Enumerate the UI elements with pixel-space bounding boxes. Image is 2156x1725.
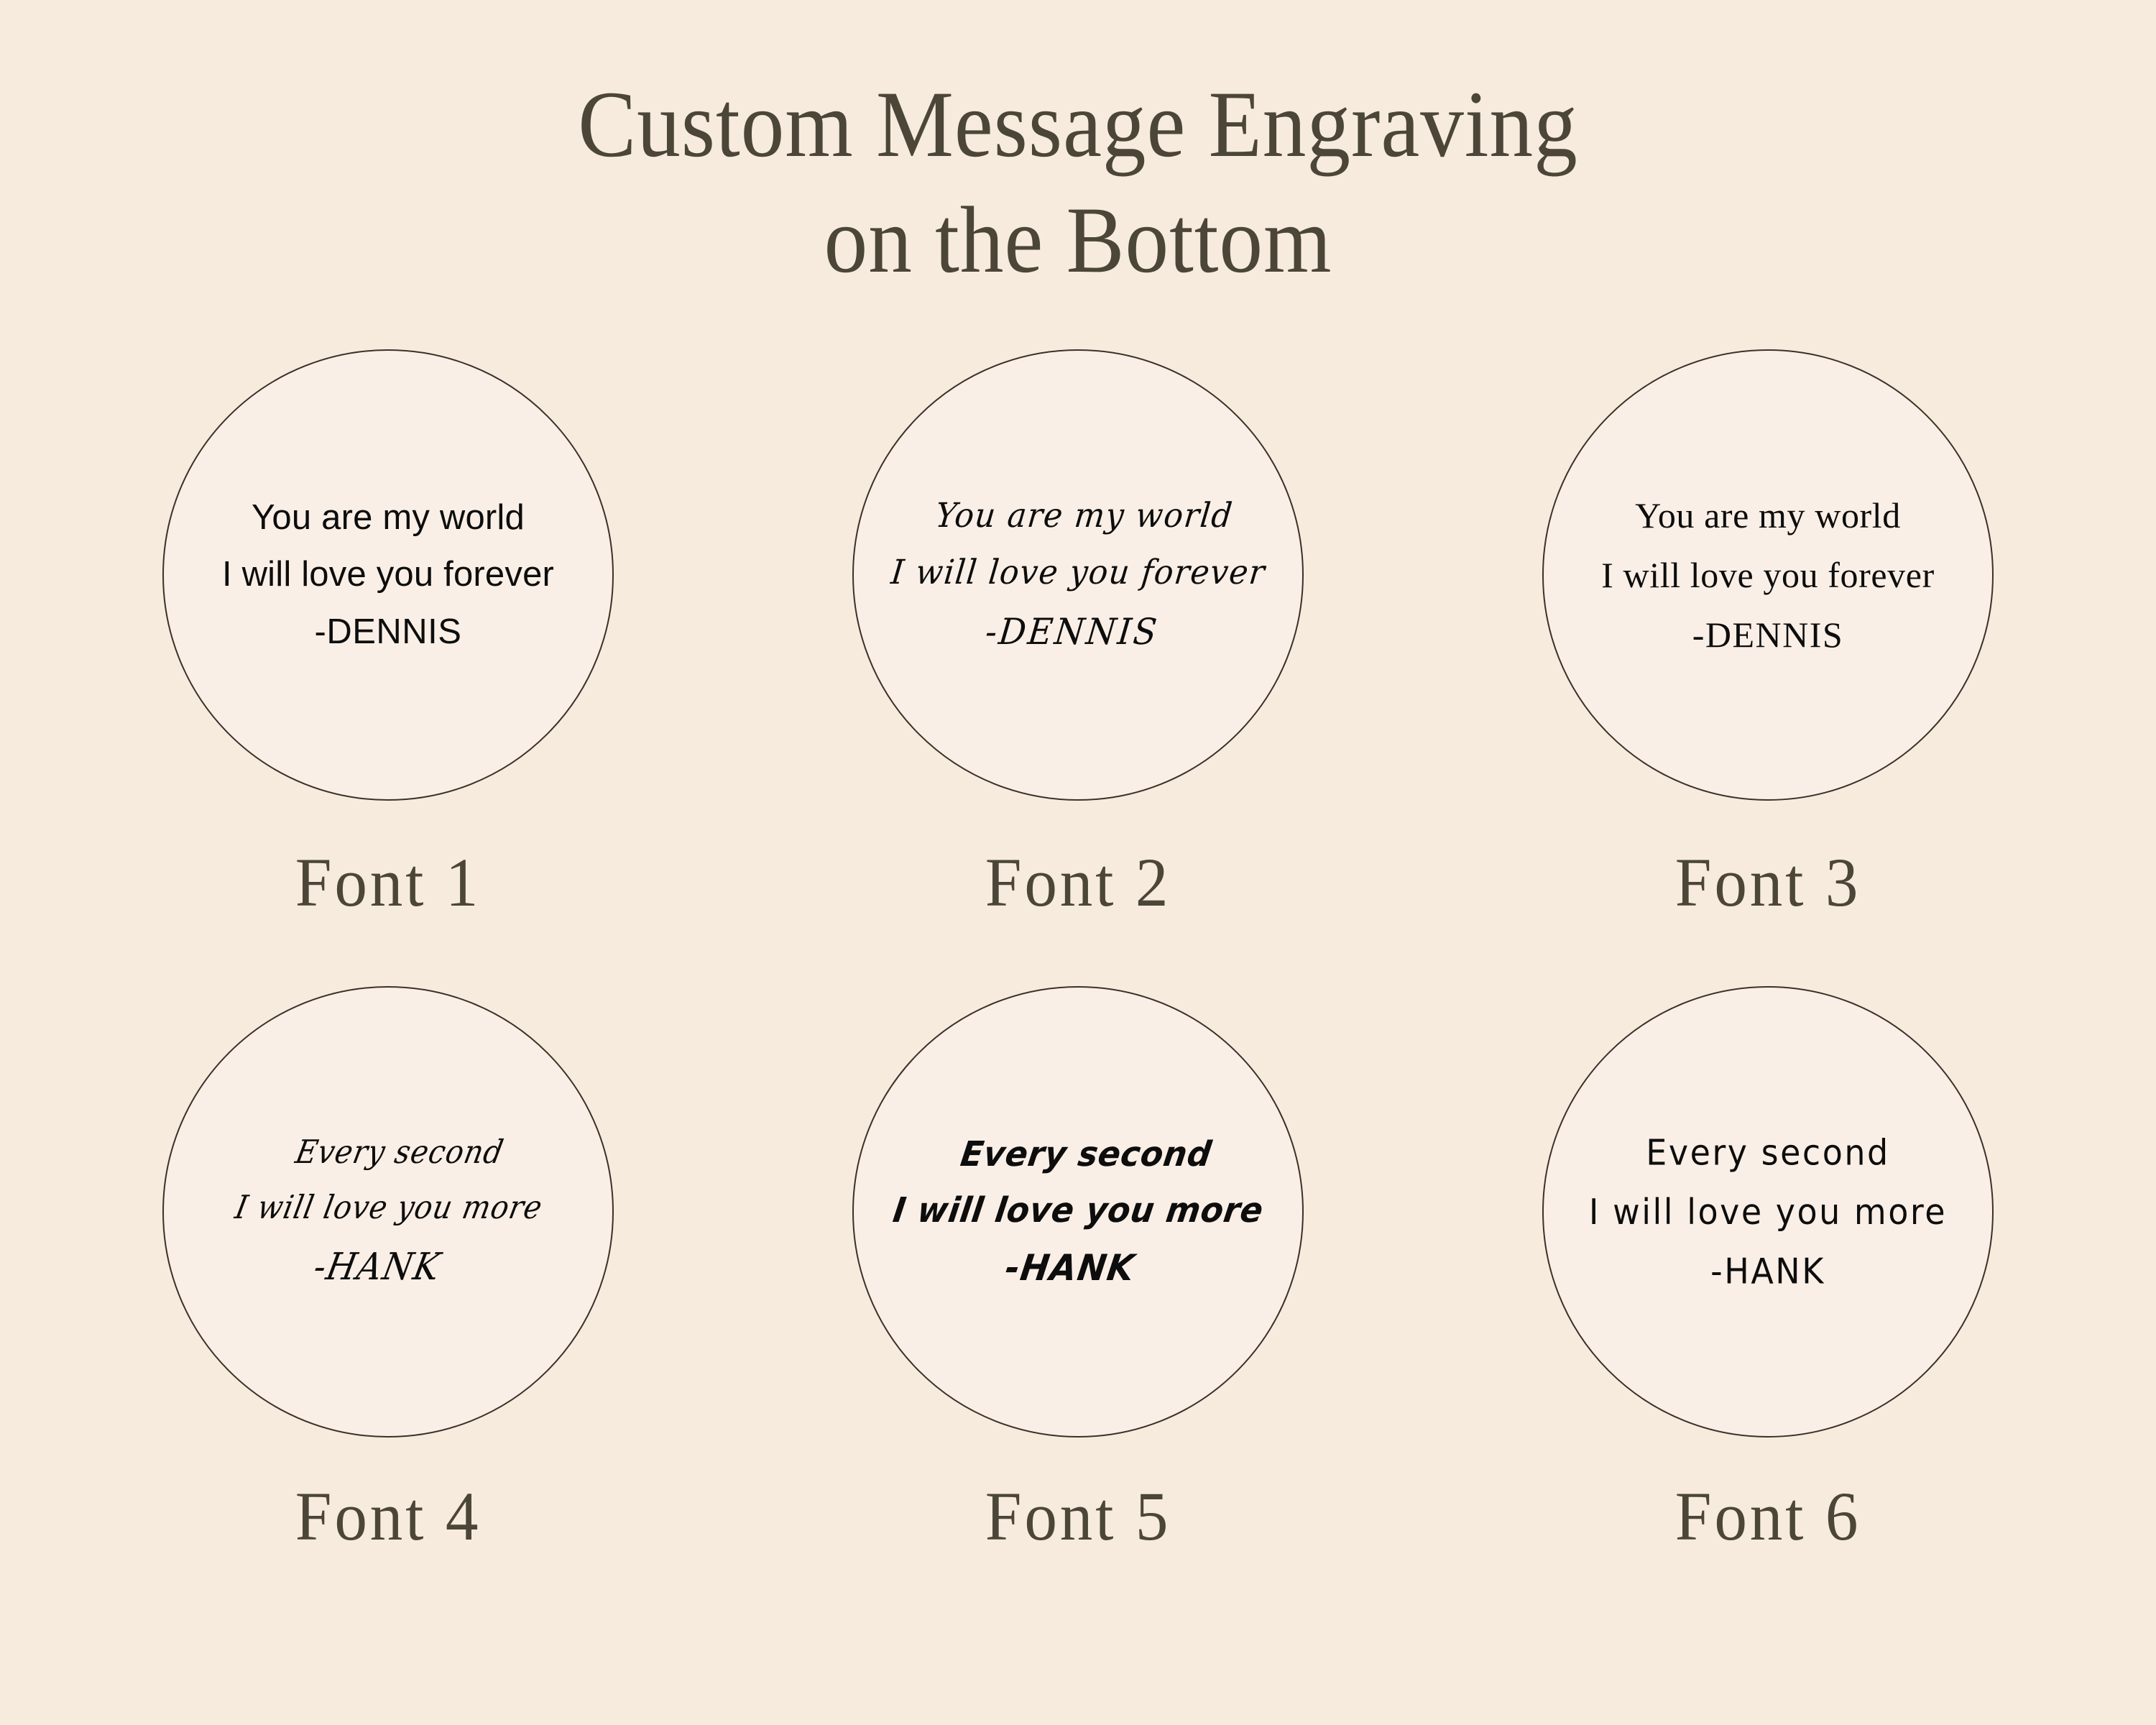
font-sample-1[interactable]: You are my world I will love you forever…	[43, 349, 733, 917]
font-sample-3[interactable]: You are my world I will love you forever…	[1423, 349, 2113, 917]
engraving-signature: -DENNIS	[982, 602, 1161, 662]
font-sample-6[interactable]: Every second I will love you more -HANK …	[1423, 986, 2113, 1551]
engraving-signature: -HANK	[1710, 1241, 1825, 1301]
engraving-text-5: Every second I will love you more -HANK	[852, 1127, 1304, 1297]
engraving-text-2: You are my world I will love you forever…	[852, 488, 1303, 662]
page-title: Custom Message Engraving on the Bottom	[86, 66, 2070, 298]
engraving-preview-disc-3[interactable]: You are my world I will love you forever…	[1542, 349, 1994, 801]
engraving-text-6: Every second I will love you more -HANK	[1542, 1123, 1994, 1302]
engraving-line-1: Every second	[291, 1124, 509, 1179]
font-sample-grid: You are my world I will love you forever…	[0, 349, 2156, 1551]
font-caption-1: Font 1	[295, 848, 481, 917]
font-caption-6: Font 6	[1675, 1482, 1861, 1551]
engraving-signature: -HANK	[308, 1236, 447, 1299]
engraving-preview-disc-2[interactable]: You are my world I will love you forever…	[852, 349, 1304, 801]
engraving-signature: -HANK	[1001, 1238, 1138, 1297]
font-sample-4[interactable]: Every second I will love you more -HANK …	[43, 986, 733, 1551]
engraving-text-4: Every second I will love you more -HANK	[164, 1124, 612, 1299]
font-caption-2: Font 2	[985, 848, 1171, 917]
engraving-preview-disc-6[interactable]: Every second I will love you more -HANK	[1542, 986, 1994, 1437]
engraving-signature: -DENNIS	[315, 604, 462, 661]
engraving-line-2: I will love you forever	[1601, 546, 1935, 605]
font-sample-2[interactable]: You are my world I will love you forever…	[733, 349, 1423, 917]
engraving-text-1: You are my world I will love you forever…	[162, 489, 614, 661]
engraving-signature: -DENNIS	[1692, 605, 1843, 665]
engraving-line-2: I will love you forever	[888, 545, 1268, 602]
engraving-line-1: You are my world	[252, 489, 525, 546]
engraving-line-1: You are my world	[933, 488, 1236, 545]
page-title-line-2: on the Bottom	[86, 182, 2070, 298]
engraving-line-2: I will love you more	[890, 1183, 1267, 1239]
font-sample-row-bottom: Every second I will love you more -HANK …	[0, 986, 2156, 1551]
engraving-line-2: I will love you more	[231, 1179, 548, 1235]
engraving-line-2: I will love you more	[1589, 1182, 1947, 1242]
font-caption-5: Font 5	[985, 1482, 1171, 1551]
engraving-preview-disc-1[interactable]: You are my world I will love you forever…	[162, 349, 614, 801]
font-caption-4: Font 4	[295, 1482, 481, 1551]
engraving-line-1: You are my world	[1635, 486, 1901, 546]
engraving-line-1: Every second	[957, 1127, 1215, 1183]
engraving-preview-disc-4[interactable]: Every second I will love you more -HANK	[162, 986, 614, 1437]
page-title-line-1: Custom Message Engraving	[86, 66, 2070, 182]
engraving-line-2: I will love you forever	[222, 546, 554, 603]
font-sample-row-top: You are my world I will love you forever…	[0, 349, 2156, 917]
engraving-line-1: Every second	[1646, 1123, 1889, 1182]
engraving-text-3: You are my world I will love you forever…	[1542, 486, 1994, 665]
engraving-font-chooser-page: Custom Message Engraving on the Bottom Y…	[0, 0, 2156, 1725]
font-sample-5[interactable]: Every second I will love you more -HANK …	[733, 986, 1423, 1551]
font-caption-3: Font 3	[1675, 848, 1861, 917]
engraving-preview-disc-5[interactable]: Every second I will love you more -HANK	[852, 986, 1304, 1437]
